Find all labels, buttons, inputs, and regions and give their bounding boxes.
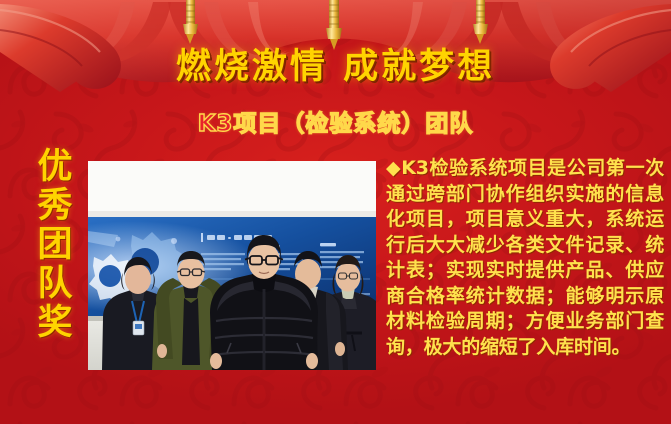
poster-headline: 燃烧激情 成就梦想 [0,38,671,89]
award-char: 秀 [34,187,76,226]
project-description: ◆K3检验系统项目是公司第一次通过跨部门协作组织实施的信息化项目，项目意义重大，… [386,156,664,360]
team-photo-image [88,161,376,370]
poster-canvas: 燃烧激情 成就梦想 K3项目（检验系统）团队 优 秀 团 队 奖 [0,0,671,424]
award-char: 团 [34,226,76,265]
award-label: 优 秀 团 队 奖 [34,148,76,343]
award-char: 奖 [34,304,76,343]
team-photo [88,161,376,370]
award-char: 队 [34,265,76,304]
poster-subtitle: K3项目（检验系统）团队 [0,104,671,138]
award-char: 优 [34,148,76,187]
